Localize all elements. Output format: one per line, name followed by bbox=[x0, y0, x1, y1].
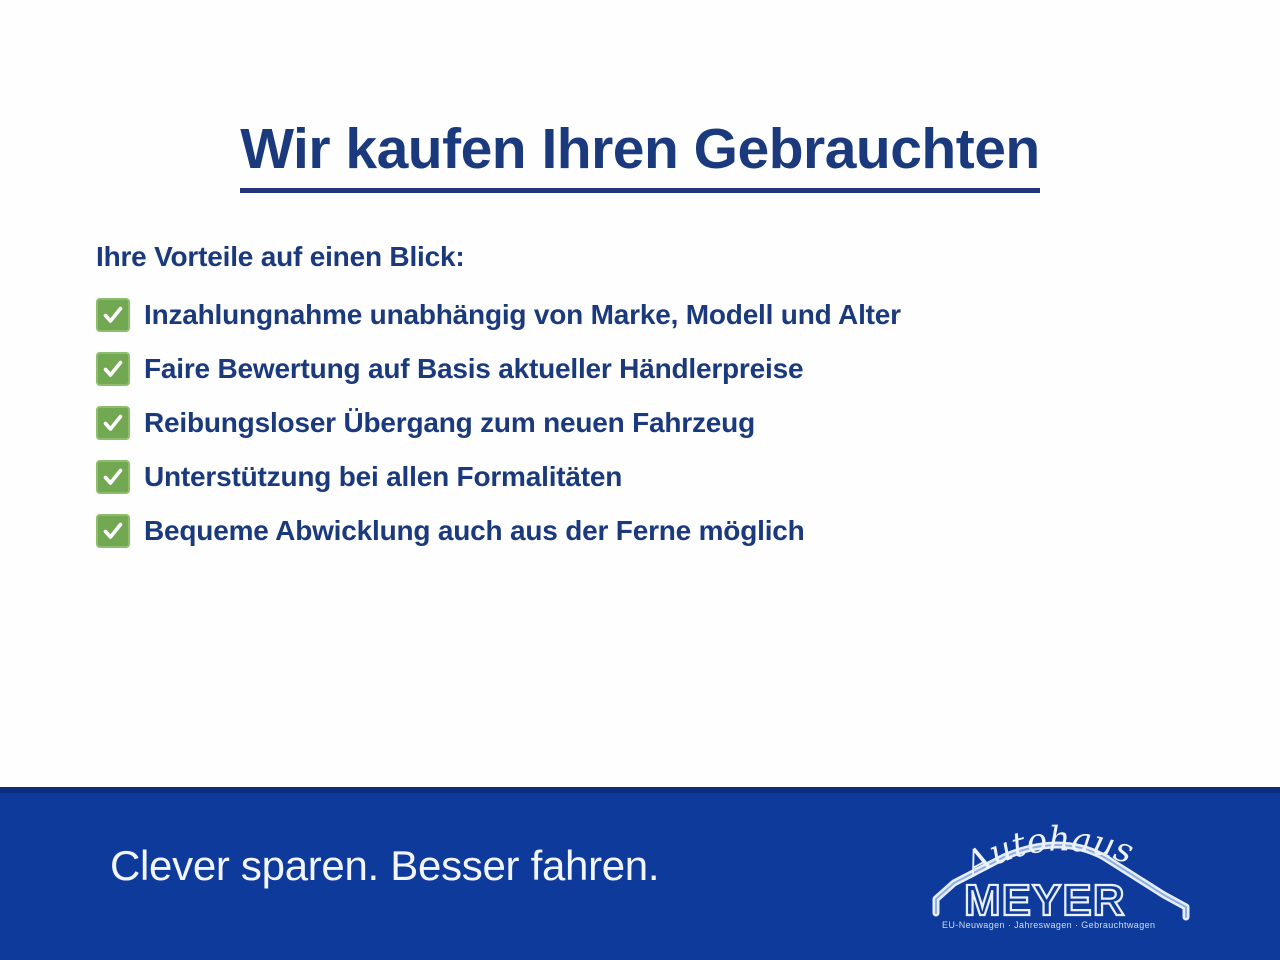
check-icon bbox=[96, 352, 130, 386]
list-item: Faire Bewertung auf Basis aktueller Händ… bbox=[96, 350, 1216, 388]
footer-tagline: Clever sparen. Besser fahren. bbox=[110, 843, 659, 889]
benefits-list: Inzahlungnahme unabhängig von Marke, Mod… bbox=[96, 296, 1216, 550]
list-item: Bequeme Abwicklung auch aus der Ferne mö… bbox=[96, 512, 1216, 550]
benefit-label: Faire Bewertung auf Basis aktueller Händ… bbox=[144, 352, 803, 386]
advertisement-page: Wir kaufen Ihren Gebrauchten Ihre Vortei… bbox=[0, 0, 1280, 960]
check-icon bbox=[96, 298, 130, 332]
list-item: Unterstützung bei allen Formalitäten bbox=[96, 458, 1216, 496]
check-icon bbox=[96, 460, 130, 494]
benefit-label: Reibungsloser Übergang zum neuen Fahrzeu… bbox=[144, 406, 755, 440]
benefit-label: Inzahlungnahme unabhängig von Marke, Mod… bbox=[144, 298, 901, 332]
headline-container: Wir kaufen Ihren Gebrauchten bbox=[0, 82, 1280, 231]
logo-name-text: MEYER bbox=[964, 876, 1125, 925]
check-icon bbox=[96, 406, 130, 440]
footer-band: Clever sparen. Besser fahren. Autohaus M… bbox=[0, 787, 1280, 960]
page-title: Wir kaufen Ihren Gebrauchten bbox=[240, 120, 1039, 193]
dealer-logo: Autohaus MEYER EU-Neuwagen · Jahreswagen… bbox=[928, 811, 1198, 936]
benefits-heading: Ihre Vorteile auf einen Blick: bbox=[96, 240, 1216, 274]
benefit-label: Unterstützung bei allen Formalitäten bbox=[144, 460, 622, 494]
list-item: Reibungsloser Übergang zum neuen Fahrzeu… bbox=[96, 404, 1216, 442]
benefits-section: Ihre Vorteile auf einen Blick: Inzahlung… bbox=[96, 240, 1216, 566]
list-item: Inzahlungnahme unabhängig von Marke, Mod… bbox=[96, 296, 1216, 334]
check-icon bbox=[96, 514, 130, 548]
logo-subtitle-text: EU-Neuwagen · Jahreswagen · Gebrauchtwag… bbox=[942, 920, 1155, 930]
benefit-label: Bequeme Abwicklung auch aus der Ferne mö… bbox=[144, 514, 805, 548]
